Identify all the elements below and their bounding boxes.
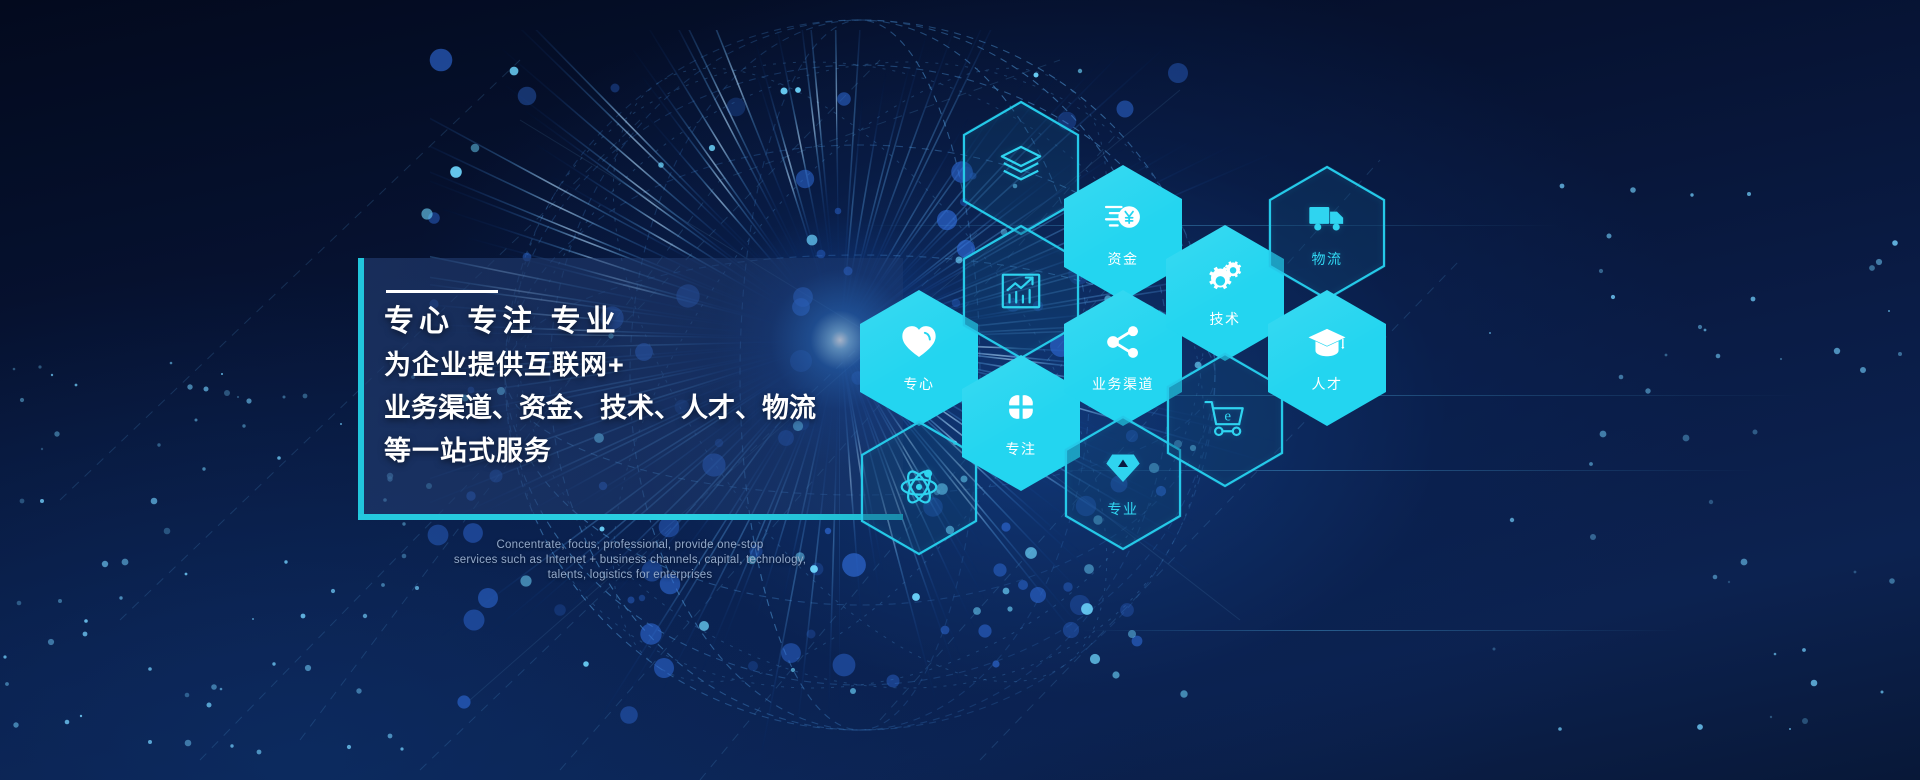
headline-block: 专心 专注 专业 为企业提供互联网+ 业务渠道、资金、技术、人才、物流 等一站式… (384, 300, 904, 473)
heart-icon (899, 322, 939, 367)
hexagon-business-channel[interactable]: 业务渠道 (1064, 290, 1182, 426)
clover-icon (1001, 387, 1041, 432)
svg-text:e: e (1224, 408, 1231, 424)
headline-line-2: 为企业提供互联网+ (384, 344, 904, 387)
hexagon-capital[interactable]: 资金 (1064, 165, 1182, 301)
headline-line-4: 等一站式服务 (384, 430, 904, 473)
headline-rule (386, 290, 498, 293)
hexagon-logistics[interactable]: 物流 (1268, 165, 1386, 301)
chart-report-icon (998, 267, 1044, 318)
atom-icon (896, 463, 942, 514)
hexagon-label: 人才 (1312, 374, 1343, 394)
hexagon-label: 专注 (1006, 439, 1037, 459)
subcopy-block: Concentrate, focus, professional, provid… (400, 538, 860, 583)
hexagon-layers[interactable] (962, 100, 1080, 236)
hexagon-label: 技术 (1210, 309, 1241, 329)
hexagon-focus-heart[interactable]: 专心 (860, 290, 978, 426)
hexagon-label: 物流 (1312, 249, 1343, 269)
layers-icon (998, 143, 1044, 194)
hexagon-label: 专心 (904, 374, 935, 394)
subcopy-line-3: talents, logistics for enterprises (400, 568, 860, 583)
hexagon-ecommerce[interactable]: e (1166, 352, 1284, 488)
hexagon-atom[interactable] (860, 420, 978, 556)
hexagon-talent[interactable]: 人才 (1268, 290, 1386, 426)
hexagon-label: 业务渠道 (1092, 374, 1154, 394)
hexagon-label: 资金 (1108, 249, 1139, 269)
shopping-cart-e-icon: e (1202, 395, 1248, 446)
graduation-cap-icon (1307, 322, 1347, 367)
hexagon-professional[interactable]: 专业 (1064, 415, 1182, 551)
subcopy-line-2: services such as Internet + business cha… (400, 553, 860, 568)
share-nodes-icon (1103, 322, 1143, 367)
headline-line-3: 业务渠道、资金、技术、人才、物流 (384, 387, 904, 430)
hexagon-cluster: 专心 专注 资金 (860, 100, 1480, 660)
truck-icon (1307, 197, 1347, 242)
gears-icon (1205, 257, 1245, 302)
yen-coin-icon (1103, 197, 1143, 242)
subcopy-line-1: Concentrate, focus, professional, provid… (400, 538, 860, 553)
hexagon-dedication-clover[interactable]: 专注 (962, 355, 1080, 491)
banner-stage: 专心 专注 专业 为企业提供互联网+ 业务渠道、资金、技术、人才、物流 等一站式… (0, 0, 1920, 780)
panel-left-accent-bar (358, 258, 364, 520)
headline-line-1: 专心 专注 专业 (384, 300, 904, 344)
hexagon-label: 专业 (1108, 499, 1139, 519)
panel-bottom-accent-bar (358, 514, 903, 520)
diamond-icon (1103, 447, 1143, 492)
hexagon-analytics[interactable] (962, 224, 1080, 360)
hexagon-technology[interactable]: 技术 (1166, 225, 1284, 361)
